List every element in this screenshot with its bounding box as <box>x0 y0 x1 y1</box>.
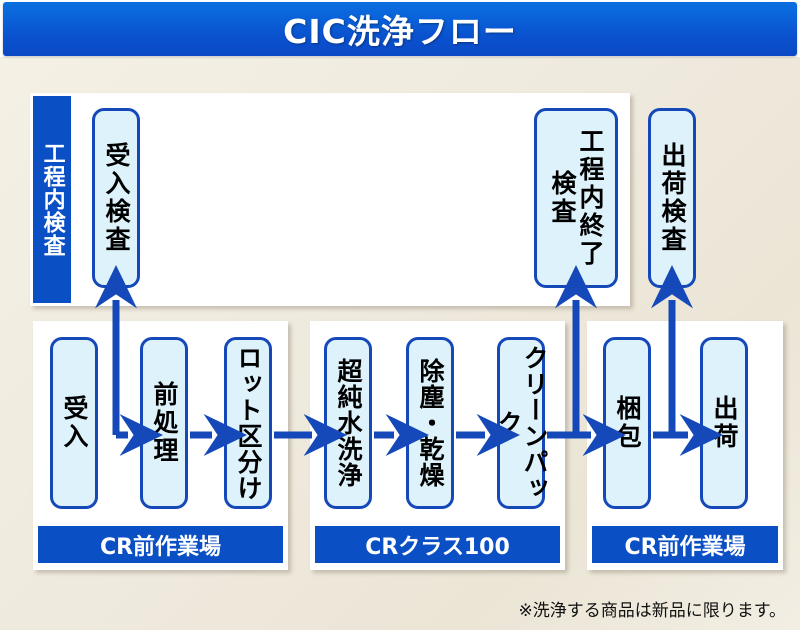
group-footer-cr-class-100: CRクラス100 <box>315 526 560 563</box>
box-maesyori[interactable]: 前処理 <box>140 337 188 509</box>
box-dust-removal-drying-label: 除塵・乾燥 <box>417 358 443 488</box>
group-footer-cr-pre-work-area-2: CR前作業場 <box>592 526 778 563</box>
page-title: CIC洗浄フロー <box>283 5 517 53</box>
box-shipping[interactable]: 出荷 <box>700 337 748 509</box>
box-lot-sorting[interactable]: ロット区分け <box>224 337 272 509</box>
flow-diagram-canvas: CIC洗浄フロー 工程内検査 受入検査 検査 工程内終了 出荷検査 受入 前処理… <box>0 0 800 630</box>
inspection-strip-text: 工程内検査 <box>40 142 63 257</box>
box-process-end-inspection[interactable]: 検査 工程内終了 <box>534 108 618 288</box>
group-footer-cr-pre-work-area-1: CR前作業場 <box>38 526 283 563</box>
box-ukeire-label: 受入 <box>61 395 87 451</box>
box-ukeire[interactable]: 受入 <box>50 337 98 509</box>
group-footer-label-3: CR前作業場 <box>624 529 745 561</box>
title-banner: CIC洗浄フロー <box>3 2 797 56</box>
box-clean-pack-label: クリーンパック <box>495 340 547 506</box>
box-packaging-label: 梱包 <box>614 395 640 451</box>
box-shipping-inspection-label: 出荷検査 <box>659 142 685 254</box>
box-shipping-inspection[interactable]: 出荷検査 <box>648 108 696 288</box>
box-process-end-inspection-label-secondary: 検査 <box>549 111 575 285</box>
box-maesyori-label: 前処理 <box>151 381 177 465</box>
box-ultrapure-water-cleaning[interactable]: 超純水洗浄 <box>324 337 372 509</box>
box-packaging[interactable]: 梱包 <box>603 337 651 509</box>
box-dust-removal-drying[interactable]: 除塵・乾燥 <box>406 337 454 509</box>
box-ultrapure-water-cleaning-label: 超純水洗浄 <box>335 358 361 488</box>
box-shipping-label: 出荷 <box>711 395 737 451</box>
box-clean-pack[interactable]: クリーンパック <box>497 337 545 509</box>
group-footer-label-2: CRクラス100 <box>365 529 510 561</box>
footnote: ※洗浄する商品は新品に限ります。 <box>518 596 786 621</box>
box-receiving-inspection[interactable]: 受入検査 <box>92 108 140 288</box>
inspection-strip-label: 工程内検査 <box>33 96 71 303</box>
box-lot-sorting-label: ロット区分け <box>235 345 261 501</box>
box-receiving-inspection-label: 受入検査 <box>103 142 129 254</box>
group-footer-label-1: CR前作業場 <box>100 529 221 561</box>
box-process-end-inspection-label-primary: 工程内終了 <box>577 111 603 285</box>
